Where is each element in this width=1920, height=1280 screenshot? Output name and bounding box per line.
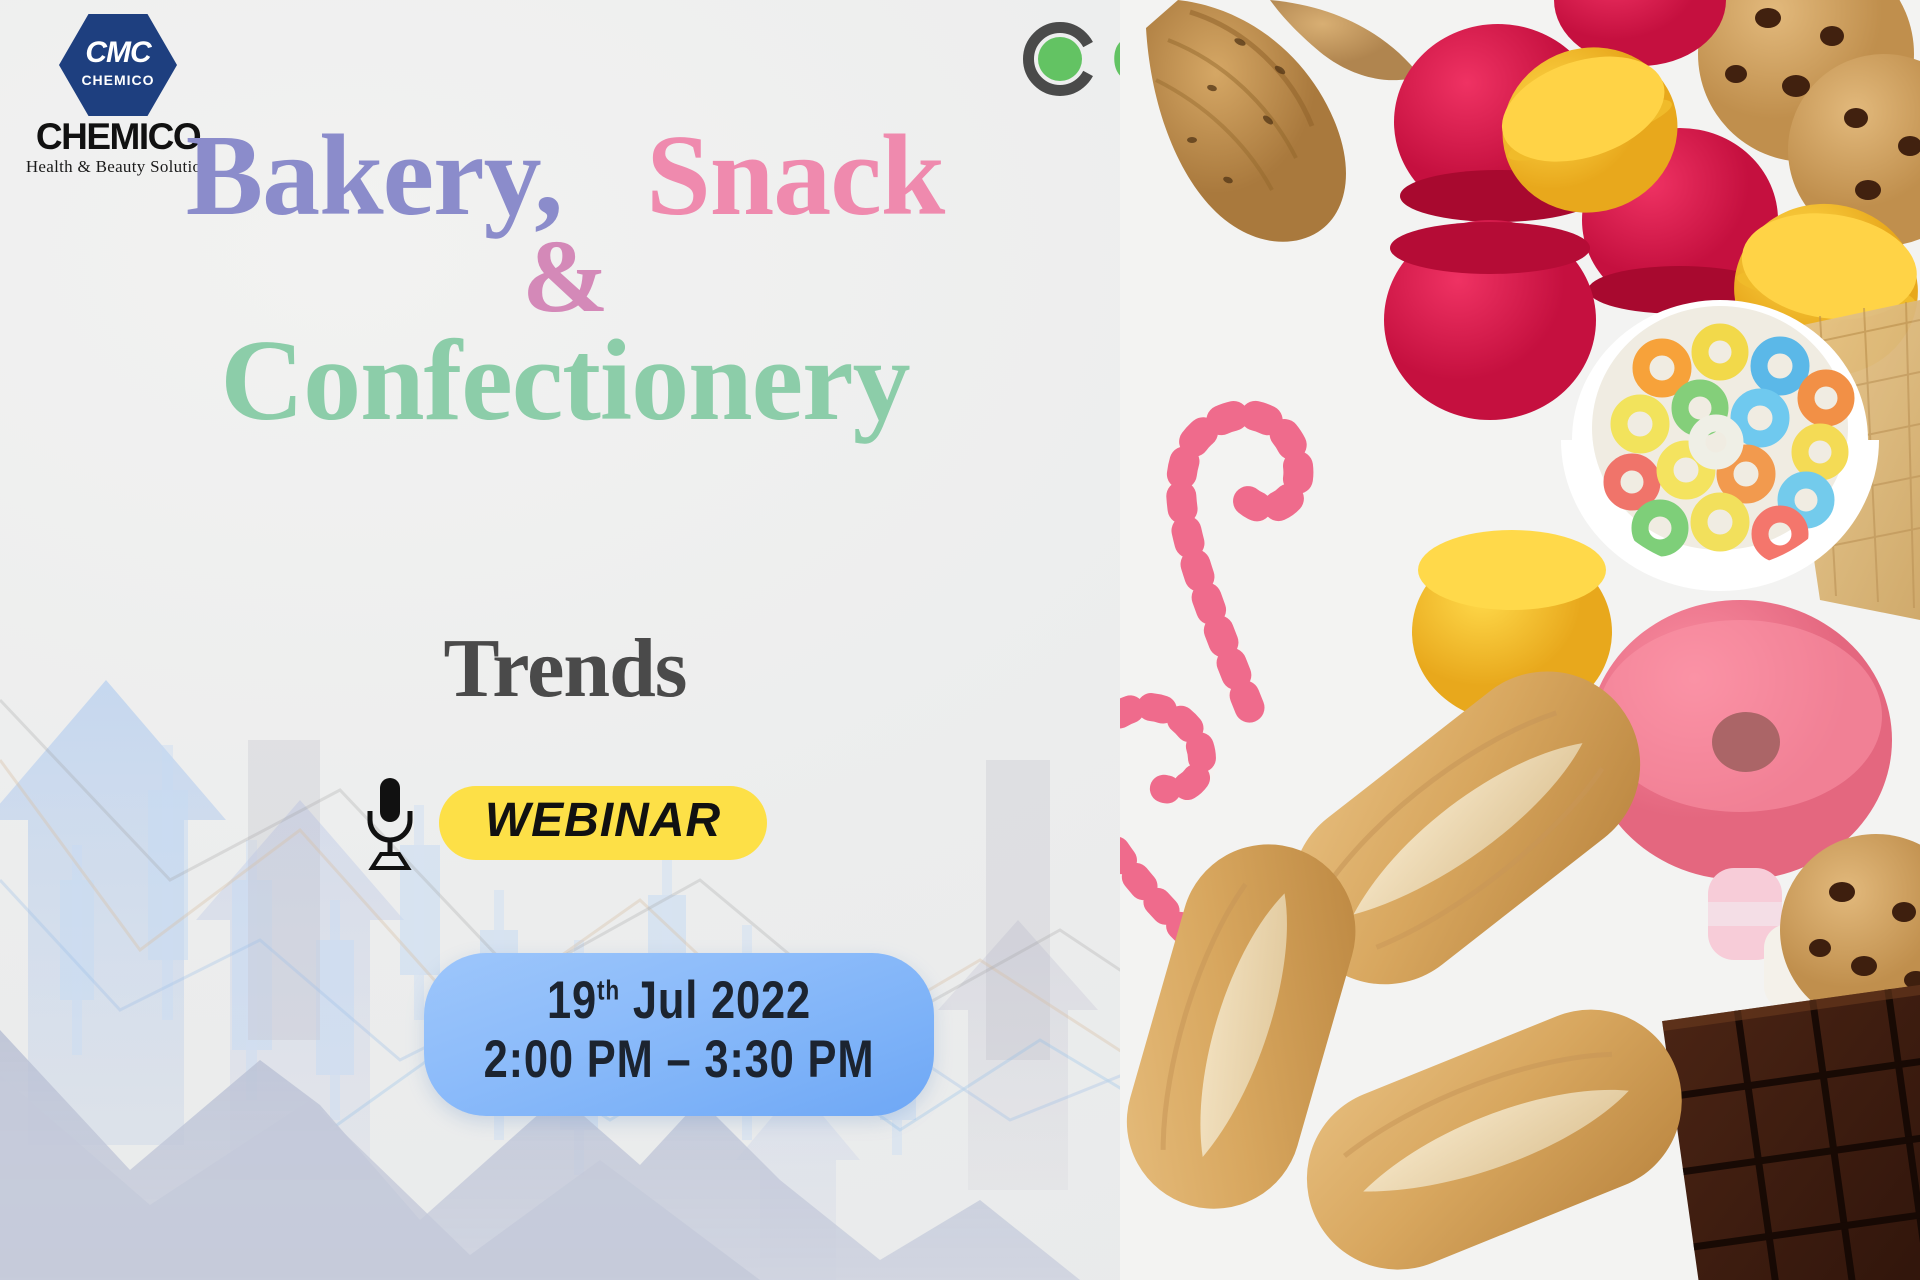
title-word-confectionery: Confectionery: [0, 323, 1130, 439]
webinar-badge: WEBINAR: [439, 786, 767, 860]
event-date-rest: Jul 2022: [620, 971, 811, 1030]
event-date: 19th Jul 2022: [470, 971, 888, 1030]
food-collage-svg: [1120, 0, 1920, 1280]
event-time: 2:00 PM – 3:30 PM: [470, 1030, 888, 1089]
cahb-green-dot: [1038, 37, 1082, 81]
webinar-poster: CMC CHEMICO CHEMICO Health & Beauty Solu…: [0, 0, 1920, 1280]
microphone-icon: [363, 775, 417, 871]
title-subtitle-trends: Trends: [0, 620, 1130, 717]
fruit-loops-cereal-bowl: [1572, 300, 1868, 580]
title-word-bakery: Bakery,: [186, 112, 562, 240]
chemico-hex-mark: CMC CHEMICO: [59, 14, 177, 116]
cahb-circle-icon: [1023, 22, 1097, 96]
title-line-1: Bakery, Snack: [0, 118, 1130, 234]
chemico-hex-subtext: CHEMICO: [59, 72, 177, 88]
up-arrow-small: [938, 920, 1098, 1190]
title-word-snack: Snack: [646, 112, 944, 240]
up-arrow-large: [0, 680, 226, 1145]
food-collage-photo: [1120, 0, 1920, 1280]
chemico-hex-initials: CMC: [59, 38, 177, 68]
page-title: Bakery, Snack & Confectionery: [0, 118, 1130, 439]
event-datetime-pill: 19th Jul 2022 2:00 PM – 3:30 PM: [424, 953, 934, 1116]
webinar-badge-row: WEBINAR: [0, 775, 1130, 871]
event-date-day: 19: [547, 971, 597, 1030]
title-ampersand: &: [0, 228, 1130, 327]
event-date-suffix: th: [597, 974, 620, 1005]
chocolate-bar: [1662, 979, 1920, 1280]
